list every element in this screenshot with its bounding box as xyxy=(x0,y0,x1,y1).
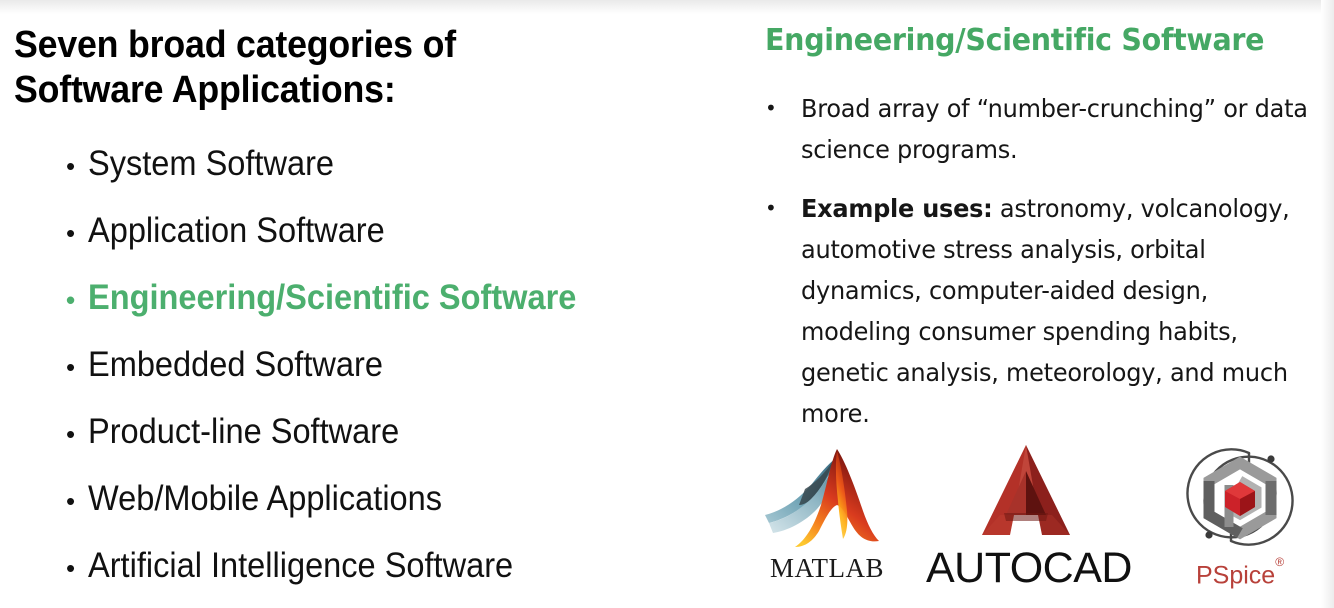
category-label: Product-line Software xyxy=(88,398,399,465)
autocad-a-icon xyxy=(970,443,1082,547)
bullet-icon: • xyxy=(66,267,88,334)
matlab-membrane-icon xyxy=(763,443,891,551)
autocad-wordmark: AUTOCAD xyxy=(926,545,1126,591)
bullet-icon: • xyxy=(66,401,88,468)
category-label: Engineering/Scientific Software xyxy=(88,264,576,331)
list-item: • System Software xyxy=(66,130,726,197)
pspice-wordmark: PSpice® xyxy=(1160,556,1320,589)
page-title: Seven broad categories of Software Appli… xyxy=(14,23,672,113)
bullet-icon: • xyxy=(765,188,777,229)
left-column: Seven broad categories of Software Appli… xyxy=(0,0,730,608)
list-item: • Broad array of “number-crunching” or d… xyxy=(765,88,1334,170)
bullet-icon: • xyxy=(66,133,88,200)
detail-bullets-list: • Broad array of “number-crunching” or d… xyxy=(730,88,1334,452)
category-label: Application Software xyxy=(88,197,385,264)
autocad-logo: AUTOCAD xyxy=(926,443,1126,591)
bullet-icon: • xyxy=(66,535,88,602)
bullet-icon: • xyxy=(66,334,88,401)
software-categories-list: • System Software • Application Software… xyxy=(66,130,726,599)
bullet-text: Example uses: astronomy, volcanology, au… xyxy=(801,188,1313,434)
right-column: Engineering/Scientific Software • Broad … xyxy=(730,0,1334,608)
registered-trademark-icon: ® xyxy=(1275,555,1284,569)
bullet-icon: • xyxy=(66,200,88,267)
list-item: • Artificial Intelligence Software xyxy=(66,532,726,599)
pspice-logo: PSpice® xyxy=(1160,443,1320,589)
list-item: • Product-line Software xyxy=(66,398,726,465)
pspice-wordmark-text: PSpice xyxy=(1196,561,1275,589)
bullet-body-text: astronomy, volcanology, automotive stres… xyxy=(801,194,1290,428)
category-label: System Software xyxy=(88,130,334,197)
autocad-crossbar xyxy=(1004,513,1048,521)
pspice-node-bottom xyxy=(1205,531,1212,538)
list-item-highlighted: • Engineering/Scientific Software xyxy=(66,264,726,331)
logo-row: MATLAB xyxy=(730,443,1334,608)
bullet-lead-label: Example uses: xyxy=(801,194,993,223)
pspice-node-top xyxy=(1267,455,1274,462)
list-item: • Example uses: astronomy, volcanology, … xyxy=(765,188,1334,434)
list-item: • Application Software xyxy=(66,197,726,264)
list-item: • Embedded Software xyxy=(66,331,726,398)
category-label: Web/Mobile Applications xyxy=(88,465,442,532)
category-label: Artificial Intelligence Software xyxy=(88,532,513,599)
matlab-wordmark: MATLAB xyxy=(742,553,912,583)
pspice-hex-circuit-icon xyxy=(1185,443,1295,551)
category-label: Embedded Software xyxy=(88,331,383,398)
bullet-text: Broad array of “number-crunching” or dat… xyxy=(801,88,1313,170)
matlab-logo: MATLAB xyxy=(742,443,912,583)
slide-canvas: Seven broad categories of Software Appli… xyxy=(0,0,1334,608)
section-heading: Engineering/Scientific Software xyxy=(765,22,1307,60)
bullet-icon: • xyxy=(765,88,777,129)
list-item: • Web/Mobile Applications xyxy=(66,465,726,532)
bullet-icon: • xyxy=(66,468,88,535)
